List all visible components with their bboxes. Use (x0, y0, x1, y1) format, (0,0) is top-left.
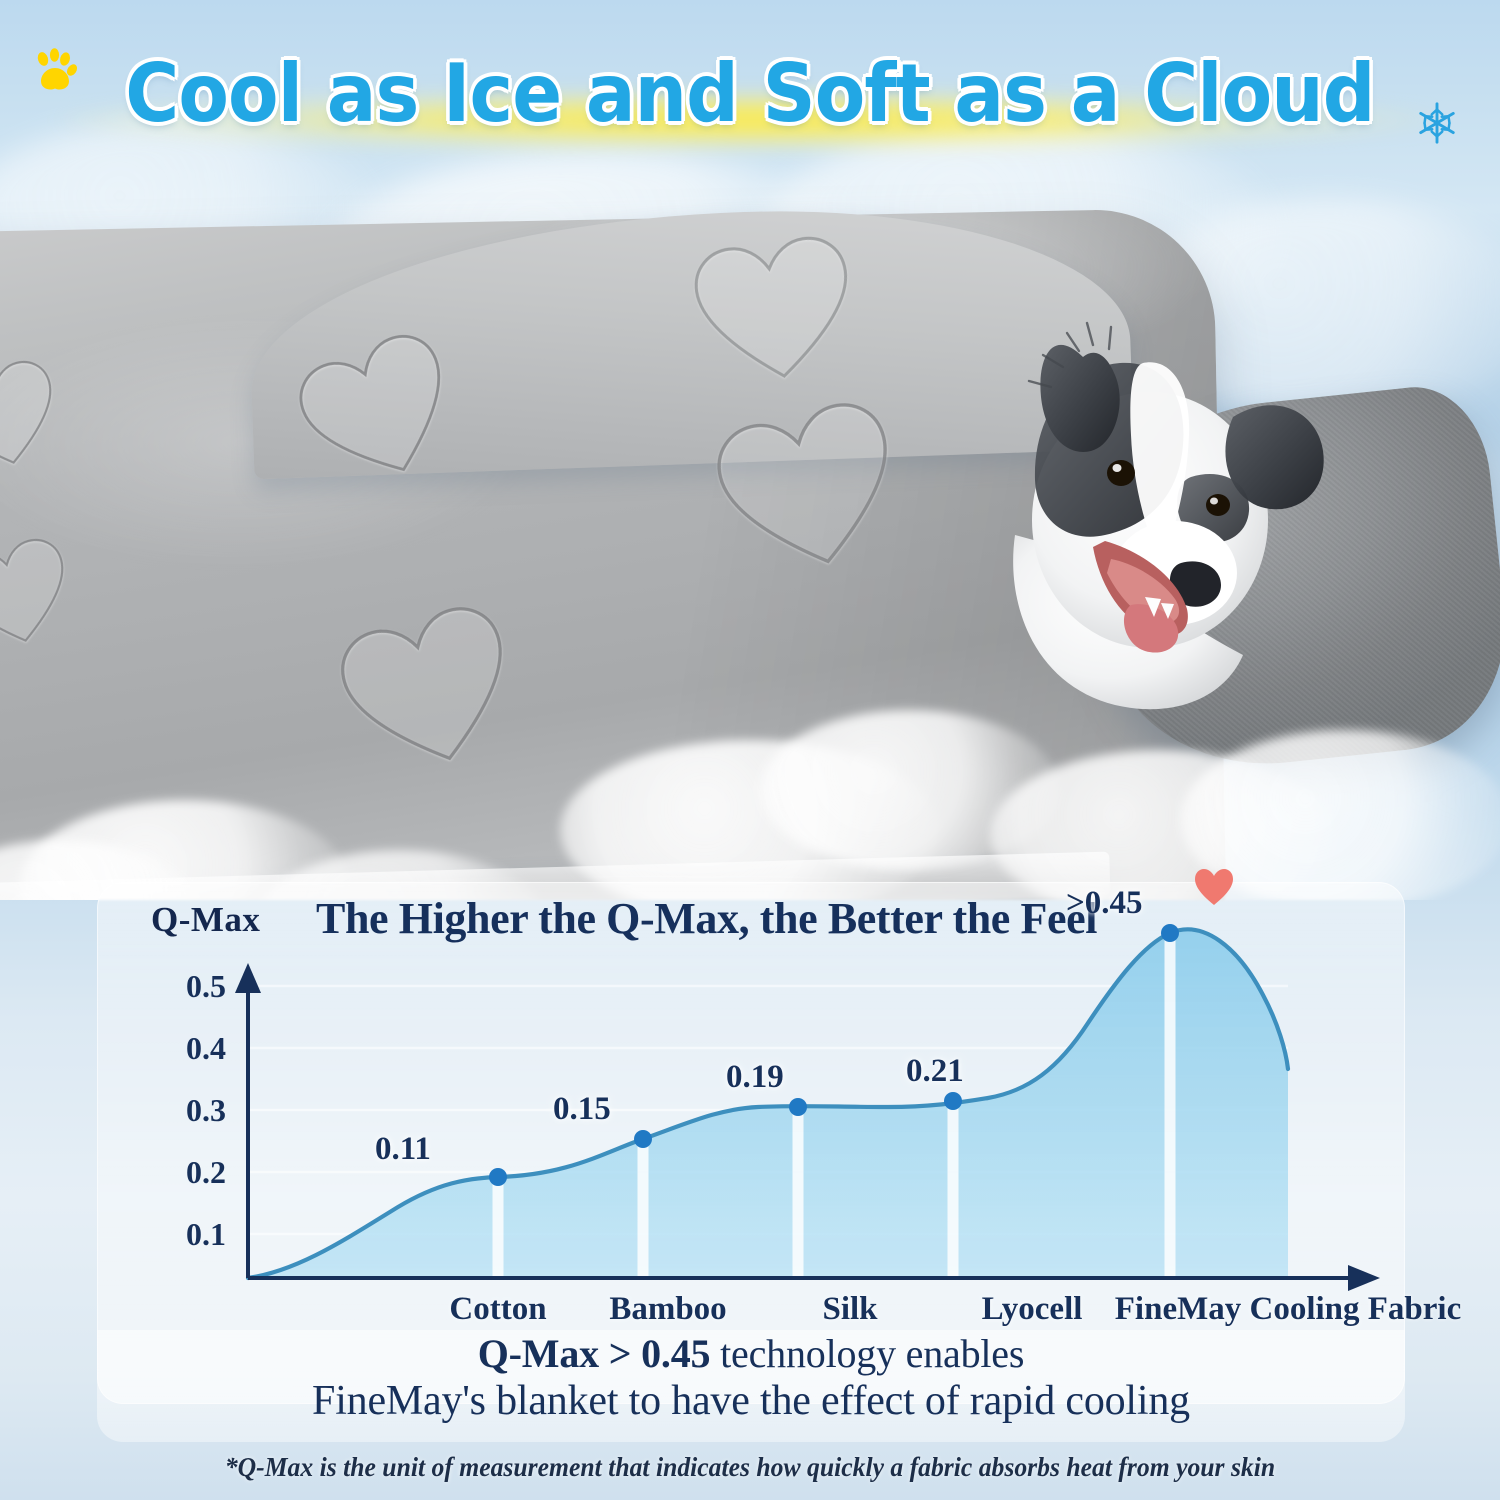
callout-line-2: FineMay's blanket to have the effect of … (97, 1377, 1405, 1426)
dog-photo (975, 305, 1375, 725)
product-photo (0, 140, 1500, 900)
callout-line-1: Q-Max > 0.45 technology enables (97, 1330, 1405, 1377)
callout-box: Q-Max > 0.45 technology enables FineMay'… (97, 1330, 1405, 1442)
x-tick-label: Cotton (449, 1291, 546, 1328)
page-title: Cool as Ice and Soft as a Cloud (125, 47, 1374, 140)
y-tick-label: 0.1 (146, 1216, 226, 1253)
data-point-label: 0.21 (906, 1053, 964, 1090)
callout-emphasis: Q-Max > 0.45 (478, 1331, 711, 1376)
x-tick-label: Silk (822, 1291, 877, 1328)
y-tick-label: 0.3 (146, 1092, 226, 1129)
qmax-line-chart (98, 883, 1406, 1343)
data-point-label: 0.19 (726, 1059, 784, 1096)
data-point-label: 0.11 (375, 1131, 431, 1168)
paw-print-icon (30, 46, 80, 96)
x-tick-label: Lyocell (982, 1291, 1083, 1328)
callout-line-1-rest: technology enables (710, 1331, 1024, 1376)
heart-quilt-stitch (680, 224, 869, 396)
footnote: *Q-Max is the unit of measurement that i… (38, 1452, 1463, 1483)
x-tick-label: Bamboo (609, 1291, 726, 1328)
product-infographic: Cool as Ice and Soft as a Cloud (0, 0, 1500, 1500)
header-banner: Cool as Ice and Soft as a Cloud (0, 38, 1500, 148)
y-tick-label: 0.2 (146, 1154, 226, 1191)
qmax-chart-panel: Q-Max The Higher the Q-Max, the Better t… (97, 882, 1405, 1404)
x-tick-label: FineMay Cooling Fabric (1115, 1291, 1461, 1328)
y-tick-label: 0.4 (146, 1030, 226, 1067)
y-tick-label: 0.5 (146, 968, 226, 1005)
data-point-label: >0.45 (1066, 885, 1143, 922)
data-point-label: 0.15 (553, 1091, 611, 1128)
